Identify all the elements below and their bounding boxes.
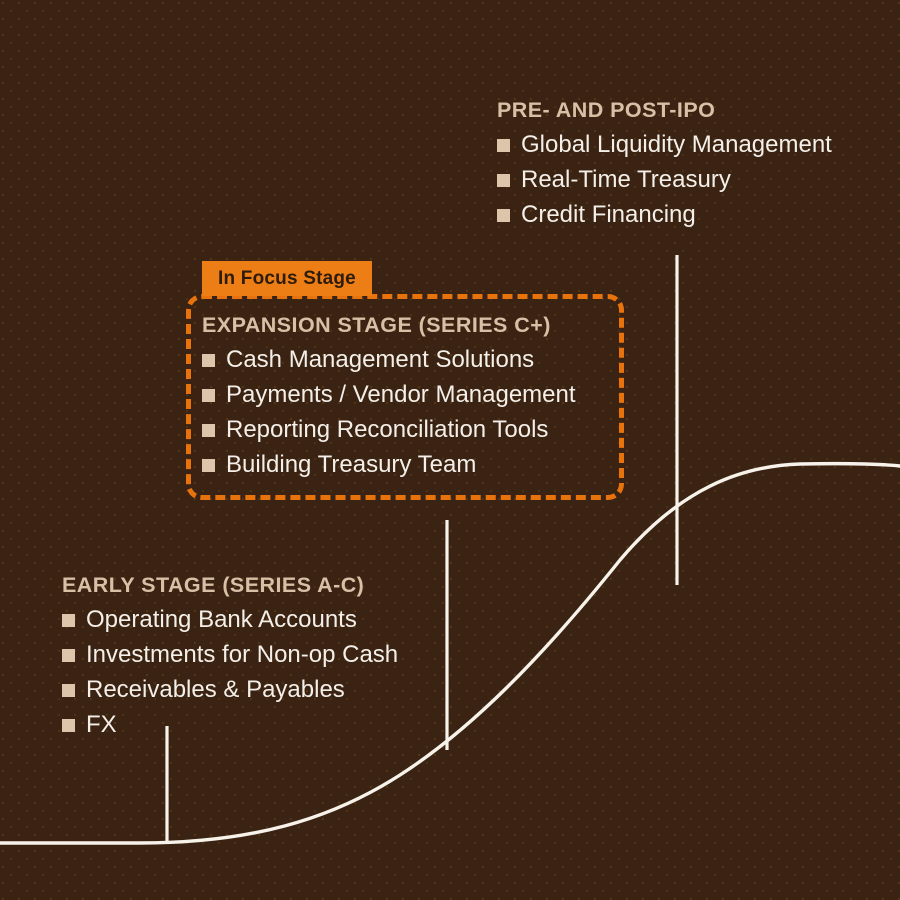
- infographic-canvas: PRE- AND POST-IPO Global Liquidity Manag…: [0, 0, 900, 900]
- list-item: Credit Financing: [497, 197, 832, 232]
- list-item-label: Investments for Non-op Cash: [86, 643, 398, 667]
- status-badge: In Focus Stage: [218, 268, 356, 290]
- stage-block-expansion: EXPANSION STAGE (SERIES C+) Cash Managem…: [202, 313, 576, 482]
- list-item: Real-Time Treasury: [497, 162, 832, 197]
- stage-block-pre-post-ipo: PRE- AND POST-IPO Global Liquidity Manag…: [497, 98, 832, 232]
- stage-item-list-pre-post-ipo: Global Liquidity Management Real-Time Tr…: [497, 127, 832, 232]
- list-item: Payments / Vendor Management: [202, 377, 576, 412]
- list-item: Cash Management Solutions: [202, 342, 576, 377]
- stage-block-early: EARLY STAGE (SERIES A-C) Operating Bank …: [62, 573, 398, 742]
- list-item-label: Credit Financing: [521, 203, 696, 227]
- list-item-label: Real-Time Treasury: [521, 168, 731, 192]
- bullet-square-icon: [62, 614, 75, 627]
- list-item: Building Treasury Team: [202, 447, 576, 482]
- bullet-square-icon: [62, 684, 75, 697]
- bullet-square-icon: [202, 354, 215, 367]
- bullet-square-icon: [497, 139, 510, 152]
- list-item-label: Reporting Reconciliation Tools: [226, 418, 548, 442]
- list-item-label: Cash Management Solutions: [226, 348, 534, 372]
- list-item-label: Payments / Vendor Management: [226, 383, 576, 407]
- bullet-square-icon: [202, 424, 215, 437]
- in-focus-stage-badge: In Focus Stage: [202, 261, 372, 296]
- list-item: Reporting Reconciliation Tools: [202, 412, 576, 447]
- list-item-label: Building Treasury Team: [226, 453, 476, 477]
- stage-title-early: EARLY STAGE (SERIES A-C): [62, 573, 398, 598]
- bullet-square-icon: [497, 209, 510, 222]
- stage-title-pre-post-ipo: PRE- AND POST-IPO: [497, 98, 832, 123]
- bullet-square-icon: [202, 459, 215, 472]
- list-item-label: FX: [86, 713, 117, 737]
- list-item-label: Receivables & Payables: [86, 678, 345, 702]
- list-item: Receivables & Payables: [62, 672, 398, 707]
- list-item: FX: [62, 707, 398, 742]
- bullet-square-icon: [62, 719, 75, 732]
- list-item: Investments for Non-op Cash: [62, 637, 398, 672]
- list-item: Global Liquidity Management: [497, 127, 832, 162]
- bullet-square-icon: [497, 174, 510, 187]
- bullet-square-icon: [202, 389, 215, 402]
- stage-item-list-expansion: Cash Management Solutions Payments / Ven…: [202, 342, 576, 482]
- list-item-label: Global Liquidity Management: [521, 133, 832, 157]
- stage-title-expansion: EXPANSION STAGE (SERIES C+): [202, 313, 576, 338]
- list-item-label: Operating Bank Accounts: [86, 608, 357, 632]
- stage-item-list-early: Operating Bank Accounts Investments for …: [62, 602, 398, 742]
- list-item: Operating Bank Accounts: [62, 602, 398, 637]
- bullet-square-icon: [62, 649, 75, 662]
